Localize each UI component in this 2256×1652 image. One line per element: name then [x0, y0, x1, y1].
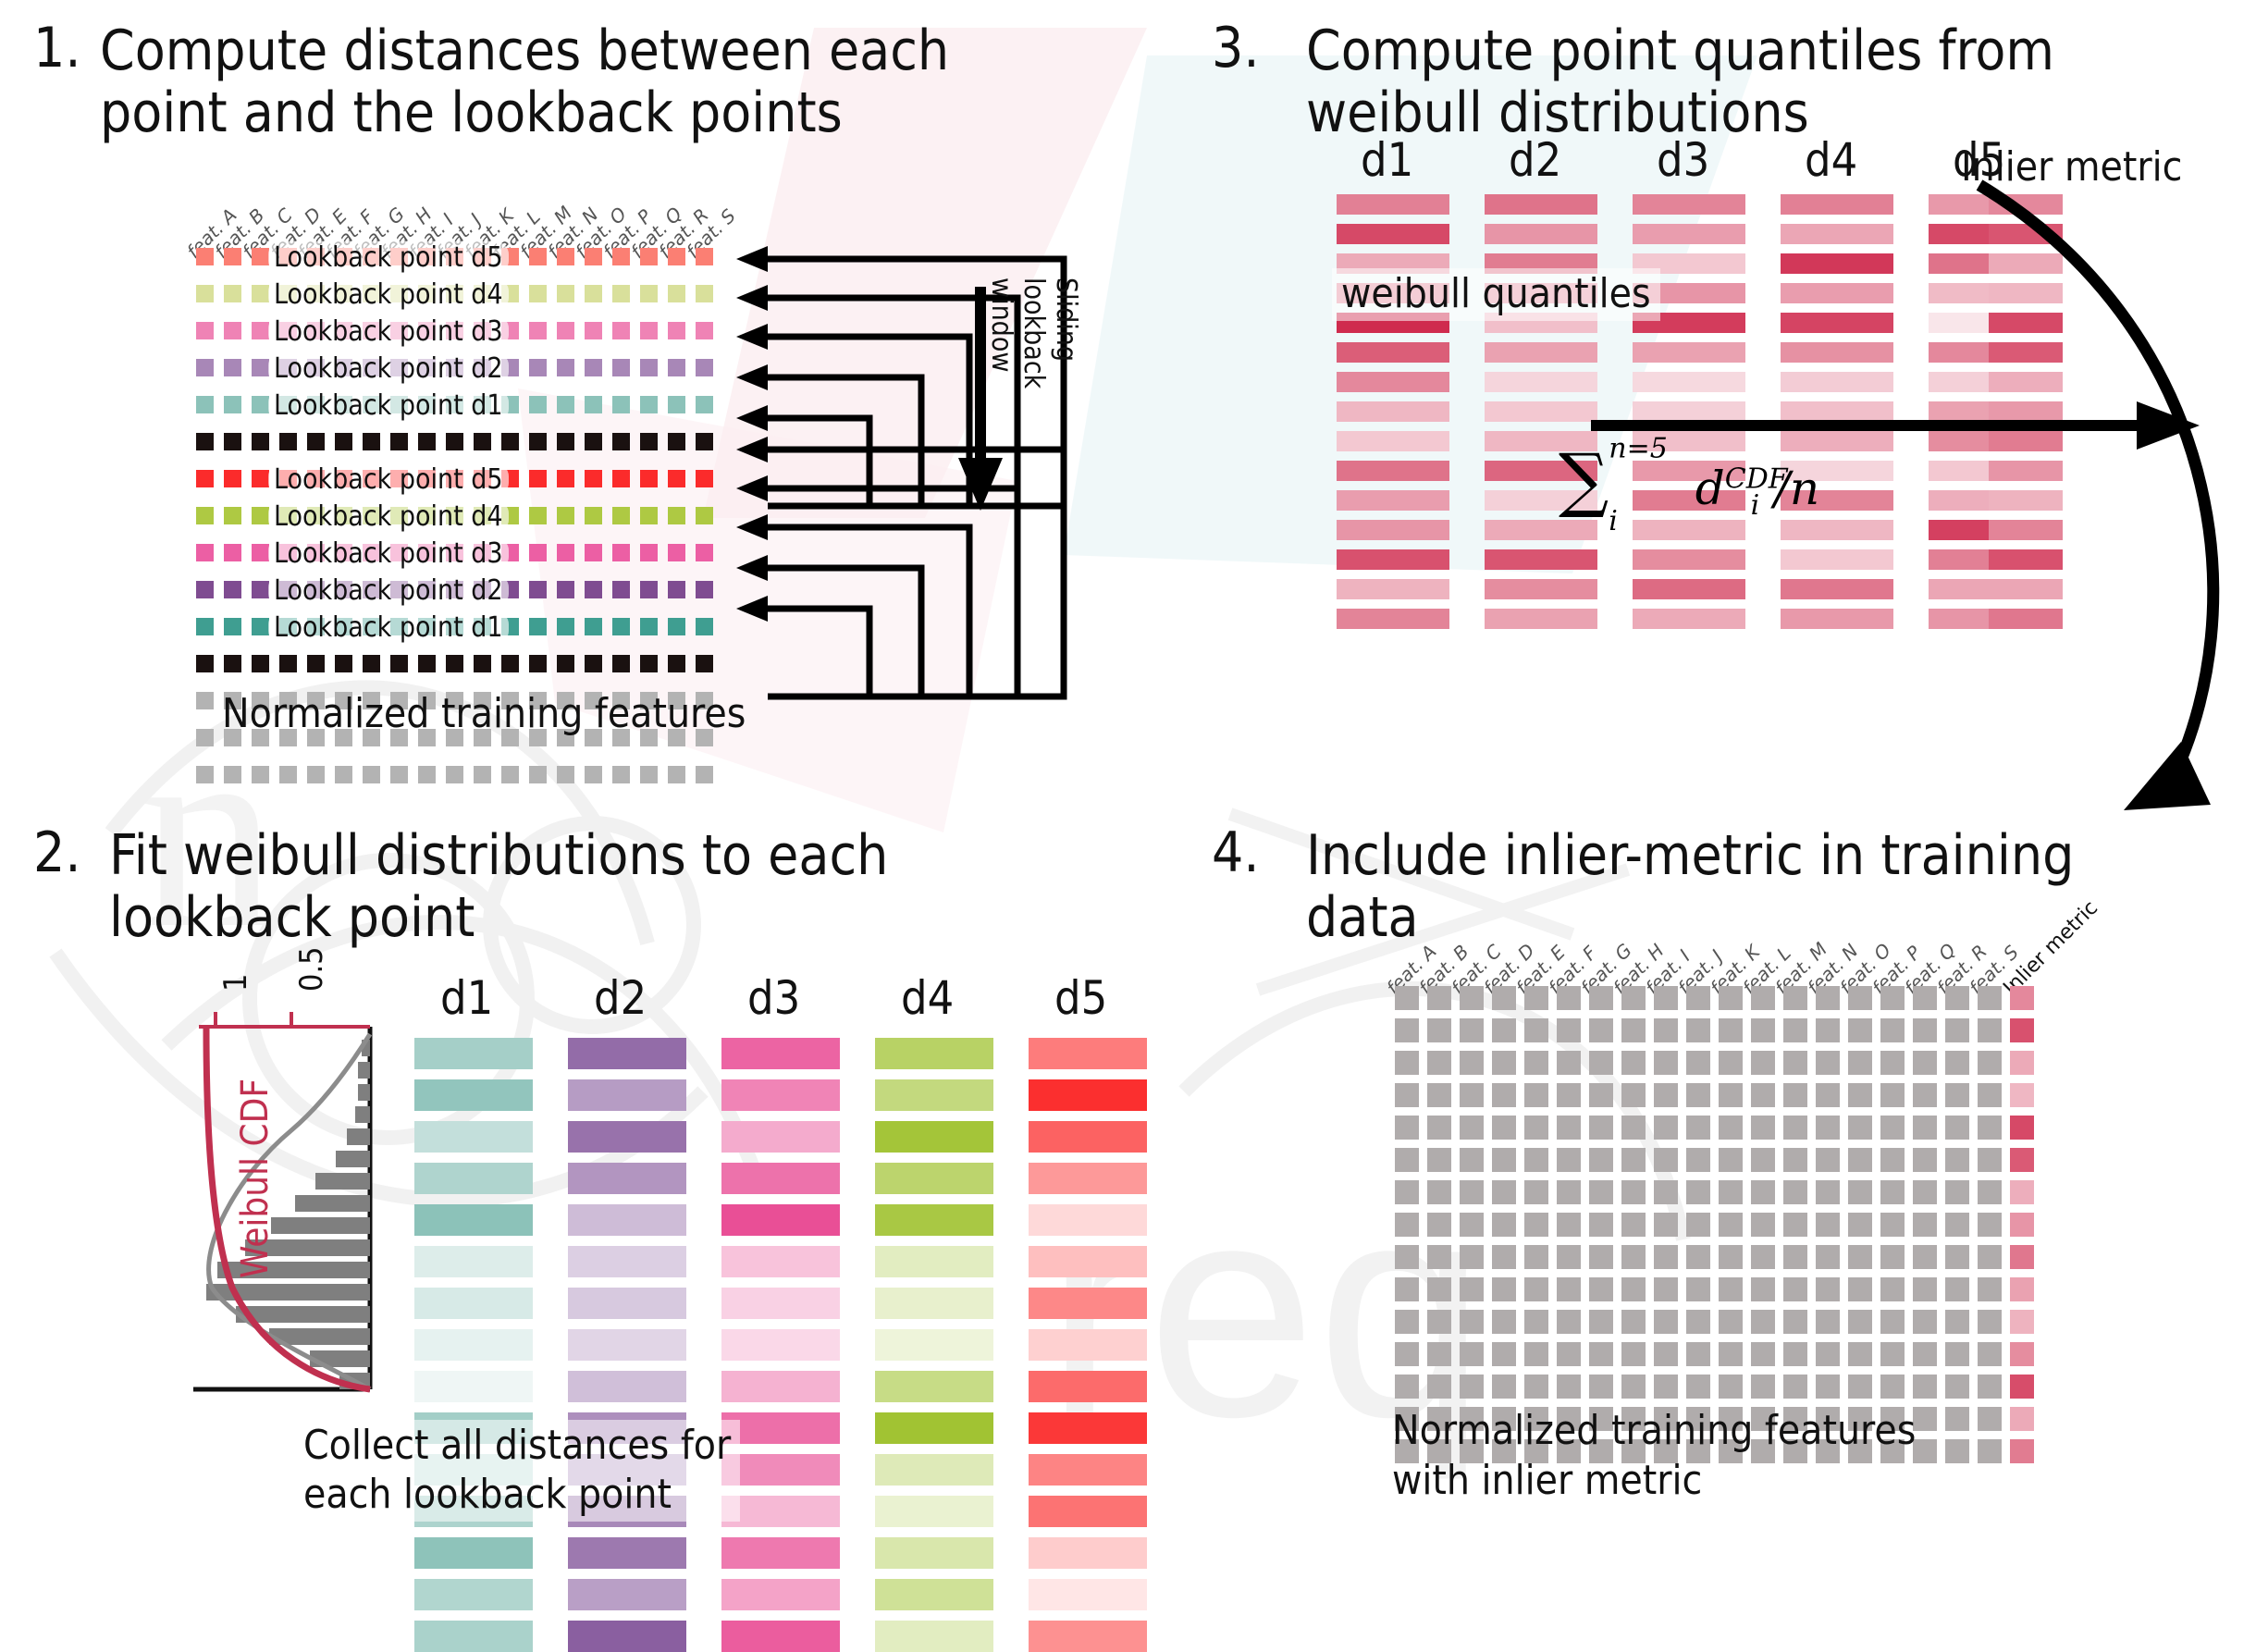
panel-2-d3-bar	[721, 1246, 840, 1277]
panel-1-lookback-row-b-5-cell	[585, 618, 602, 635]
panel-4-inlier-cell	[2010, 1407, 2034, 1431]
panel-2-d4-bar	[875, 1621, 993, 1652]
panel-4-feature-cell	[1783, 986, 1807, 1010]
panel-4-feature-cell	[1557, 1245, 1581, 1269]
panel-1-lookback-row-a-5-cell	[224, 396, 241, 413]
panel-1-current-point-b-cell	[696, 655, 713, 672]
panel-1-lookback-row-a-2-cell	[252, 285, 269, 302]
panel-4-feature-cell	[1848, 1245, 1872, 1269]
panel-4-feature-cell	[1913, 1342, 1937, 1366]
panel-3-d4-bar	[1781, 194, 1893, 215]
panel-4-feature-cell	[1589, 1375, 1613, 1399]
panel-1-current-point-a-cell	[640, 433, 658, 450]
panel-4-feature-cell	[1621, 1245, 1646, 1269]
panel-1-lookback-row-b-2-cell	[529, 507, 547, 524]
panel-4-inlier-cell	[2010, 1018, 2034, 1042]
panel-4-feature-cell	[1492, 1116, 1516, 1140]
panel-2-column-label-d1: d1	[440, 971, 493, 1025]
panel-4-feature-cell	[1686, 1116, 1710, 1140]
panel-2-d1-bar	[414, 1038, 533, 1069]
panel-2-d4-bar	[875, 1163, 993, 1194]
panel-1-trailing-row-3-cell	[196, 766, 214, 783]
panel-4-feature-cell	[1621, 986, 1646, 1010]
panel-4-feature-cell	[1848, 1277, 1872, 1301]
panel-4-feature-cell	[1913, 1277, 1937, 1301]
panel-4-feature-cell	[1621, 1342, 1646, 1366]
panel-1-lookback-row-b-1-cell	[224, 470, 241, 487]
panel-4-feature-cell	[1589, 1051, 1613, 1075]
panel-4-feature-cell	[1816, 1342, 1840, 1366]
panel-4-feature-cell	[1945, 1245, 1969, 1269]
panel-4-feature-cell	[1557, 1180, 1581, 1204]
panel-4-feature-cell	[1945, 1018, 1969, 1042]
panel-3-d4-bar	[1781, 253, 1893, 274]
panel-1-lookback-row-b-3-cell	[196, 544, 214, 561]
panel-2-d5-bar	[1029, 1204, 1147, 1236]
panel-1-compute-distances: 1. Compute distances between each point …	[0, 0, 1128, 795]
panel-1-lookback-row-b-2-cell	[640, 507, 658, 524]
panel-2-d4-bar	[875, 1204, 993, 1236]
panel-1-title: Compute distances between each point and…	[100, 20, 1043, 144]
panel-4-feature-cell	[1783, 1148, 1807, 1172]
panel-4-feature-cell	[1460, 1018, 1484, 1042]
panel-4-feature-cell	[1621, 1148, 1646, 1172]
panel-2-d5-bar	[1029, 1621, 1147, 1652]
panel-4-feature-cell	[1978, 1051, 2002, 1075]
panel-4-feature-cell	[1978, 1407, 2002, 1431]
panel-1-lookback-row-a-3-label: Lookback point d3	[268, 315, 509, 348]
panel-2-d2-bar	[568, 1537, 686, 1569]
formula-lower-limit: i	[1609, 505, 1618, 537]
panel-1-step-number: 1.	[33, 20, 80, 76]
panel-4-feature-cell	[1492, 1375, 1516, 1399]
panel-4-feature-cell	[1427, 1083, 1451, 1107]
panel-4-feature-cell	[1848, 1180, 1872, 1204]
panel-4-feature-cell	[1913, 1051, 1937, 1075]
panel-1-lookback-row-b-1-cell	[640, 470, 658, 487]
panel-1-current-point-b-cell	[529, 655, 547, 672]
panel-2-column-label-d2: d2	[594, 971, 647, 1025]
panel-4-feature-cell	[1848, 1213, 1872, 1237]
weibull-cdf-axis-label: Weibull CDF	[234, 1079, 277, 1278]
panel-1-lookback-row-b-1-cell	[668, 470, 685, 487]
panel-4-feature-cell	[1848, 1342, 1872, 1366]
panel-1-current-point-a-cell	[390, 433, 408, 450]
panel-4-feature-cell	[1978, 1245, 2002, 1269]
panel-4-feature-cell	[1654, 986, 1678, 1010]
panel-1-lookback-row-a-2-cell	[668, 285, 685, 302]
panel-4-feature-cell	[1654, 1018, 1678, 1042]
panel-4-feature-cell	[1589, 1310, 1613, 1334]
panel-1-lookback-row-a-3-cell	[252, 322, 269, 339]
panel-2-d1-bar	[414, 1246, 533, 1277]
panel-3-d1-bar	[1337, 579, 1449, 599]
panel-4-feature-cell	[1719, 986, 1743, 1010]
formula-body-sub: i	[1751, 489, 1760, 522]
panel-1-lookback-row-a-2-cell	[557, 285, 574, 302]
panel-2-d3-bar	[721, 1038, 840, 1069]
panel-4-feature-cell	[1945, 1213, 1969, 1237]
panel-1-lookback-row-b-3-cell	[585, 544, 602, 561]
panel-4-feature-cell	[1589, 1018, 1613, 1042]
panel-4-feature-cell	[1751, 1375, 1775, 1399]
panel-1-lookback-row-b-5-cell	[696, 618, 713, 635]
panel-4-feature-cell	[1719, 1375, 1743, 1399]
panel-1-lookback-row-a-4-cell	[640, 359, 658, 376]
panel-4-feature-cell	[1589, 1083, 1613, 1107]
panel-2-d3-bar	[721, 1121, 840, 1153]
panel-1-lookback-row-b-3-cell	[252, 544, 269, 561]
panel-1-trailing-row-3-cell	[696, 766, 713, 783]
panel-1-trailing-row-3-cell	[585, 766, 602, 783]
panel-2-column-label-d5: d5	[1054, 971, 1107, 1025]
panel-4-feature-cell	[1524, 1342, 1548, 1366]
panel-4-feature-cell	[1460, 1342, 1484, 1366]
panel-4-feature-cell	[1654, 1277, 1678, 1301]
panel-1-current-point-a-cell	[252, 433, 269, 450]
panel-3-column-label-d4: d4	[1805, 133, 1857, 187]
panel-1-lookback-row-b-4-cell	[224, 581, 241, 598]
panel-4-feature-cell	[1686, 1245, 1710, 1269]
panel-3-d2-bar	[1485, 372, 1597, 392]
panel-4-feature-cell	[1719, 1342, 1743, 1366]
panel-4-feature-cell	[1880, 1277, 1905, 1301]
panel-1-current-point-b-cell	[307, 655, 325, 672]
panel-3-d1-bar	[1337, 609, 1449, 629]
panel-1-lookback-row-a-1-cell	[557, 248, 574, 265]
panel-4-feature-cell	[1686, 1083, 1710, 1107]
panel-4-feature-cell	[1589, 1245, 1613, 1269]
panel-4-feature-cell	[1524, 1018, 1548, 1042]
panel-1-lookback-row-b-1-cell	[696, 470, 713, 487]
panel-4-feature-cell	[1621, 1277, 1646, 1301]
panel-2-d5-bar	[1029, 1496, 1147, 1527]
panel-4-feature-cell	[1557, 1018, 1581, 1042]
panel-4-feature-cell	[1524, 1180, 1548, 1204]
panel-4-feature-cell	[1492, 1277, 1516, 1301]
panel-4-feature-cell	[1751, 1245, 1775, 1269]
panel-3-d2-bar	[1485, 549, 1597, 570]
panel-2-step-number: 2.	[33, 825, 80, 881]
panel-4-feature-cell	[1686, 1148, 1710, 1172]
panel-4-feature-cell	[1427, 1310, 1451, 1334]
panel-1-lookback-row-b-2-cell	[252, 507, 269, 524]
panel-4-feature-cell	[1686, 1018, 1710, 1042]
panel-4-feature-cell	[1427, 1180, 1451, 1204]
panel-4-feature-cell	[1880, 1148, 1905, 1172]
panel-2-d3-bar	[721, 1537, 840, 1569]
panel-4-feature-cell	[1686, 1277, 1710, 1301]
panel-4-feature-cell	[1654, 1148, 1678, 1172]
panel-1-current-point-b-cell	[335, 655, 352, 672]
sliding-window-label: Sliding lookback window	[985, 277, 1082, 388]
panel-1-current-point-a-cell	[529, 433, 547, 450]
panel-3-d1-bar	[1337, 431, 1449, 451]
panel-3-d3-bar	[1633, 342, 1745, 363]
panel-4-feature-cell	[1945, 1116, 1969, 1140]
panel-2-d3-bar	[721, 1163, 840, 1194]
panel-2-d5-bar	[1029, 1288, 1147, 1319]
panel-4-feature-cell	[1751, 1083, 1775, 1107]
panel-4-feature-cell	[1492, 1213, 1516, 1237]
panel-3-d1-bar	[1337, 520, 1449, 540]
panel-4-feature-cell	[1783, 1116, 1807, 1140]
panel-4-feature-cell	[1427, 1277, 1451, 1301]
panel-1-trailing-row-3-cell	[640, 766, 658, 783]
panel-2-d4-bar	[875, 1121, 993, 1153]
panel-3-d4-bar	[1781, 609, 1893, 629]
panel-1-trailing-row-3-cell	[252, 766, 269, 783]
panel-1-lookback-row-a-2-label: Lookback point d4	[268, 278, 509, 311]
panel-1-lookback-row-b-5-cell	[252, 618, 269, 635]
panel-4-feature-cell	[1751, 1180, 1775, 1204]
panel-4-feature-cell	[1686, 1310, 1710, 1334]
panel-4-feature-cell	[1719, 1083, 1743, 1107]
panel-4-feature-cell	[1880, 1310, 1905, 1334]
panel-4-feature-cell	[1848, 1148, 1872, 1172]
panel-2-d4-bar	[875, 1496, 993, 1527]
panel-1-lookback-row-b-5-label: Lookback point d1	[268, 611, 509, 644]
panel-1-lookback-row-a-5-cell	[529, 396, 547, 413]
panel-4-feature-cell	[1492, 1342, 1516, 1366]
panel-4-feature-cell	[1589, 1277, 1613, 1301]
panel-2-d4-bar	[875, 1038, 993, 1069]
panel-1-lookback-row-a-2-cell	[696, 285, 713, 302]
panel-4-feature-cell	[1492, 986, 1516, 1010]
panel-4-feature-cell	[1816, 1310, 1840, 1334]
panel-1-lookback-row-a-1-cell	[585, 248, 602, 265]
panel-2-d4-bar	[875, 1454, 993, 1486]
panel-3-column-label-d2: d2	[1509, 133, 1561, 187]
panel-4-feature-cell	[1621, 1116, 1646, 1140]
panel-1-lookback-row-b-1-cell	[612, 470, 630, 487]
panel-1-lookback-row-a-1-cell	[640, 248, 658, 265]
panel-1-lookback-row-a-5-cell	[557, 396, 574, 413]
panel-2-d3-bar	[721, 1579, 840, 1610]
panel-1-lookback-row-a-2-cell	[196, 285, 214, 302]
panel-4-feature-cell	[1978, 1213, 2002, 1237]
panel-4-feature-cell	[1945, 986, 1969, 1010]
panel-4-feature-cell	[1427, 1148, 1451, 1172]
panel-4-feature-cell	[1524, 1083, 1548, 1107]
panel-4-feature-cell	[1524, 986, 1548, 1010]
panel-4-feature-cell	[1557, 1375, 1581, 1399]
panel-4-feature-cell	[1816, 1083, 1840, 1107]
panel-2-overlay-label: Collect all distances for each lookback …	[294, 1420, 740, 1522]
panel-4-feature-cell	[1945, 1277, 1969, 1301]
panel-4-feature-cell	[1557, 1116, 1581, 1140]
panel-4-feature-cell	[1816, 1018, 1840, 1042]
panel-1-current-point-a-cell	[279, 433, 297, 450]
panel-3-d4-bar	[1781, 579, 1893, 599]
panel-4-feature-cell	[1913, 1310, 1937, 1334]
panel-4-feature-cell	[1978, 1439, 2002, 1463]
panel-4-feature-cell	[1492, 1245, 1516, 1269]
panel-4-feature-cell	[1621, 1180, 1646, 1204]
panel-1-current-point-b-cell	[390, 655, 408, 672]
panel-1-lookback-row-b-5-cell	[612, 618, 630, 635]
panel-4-feature-cell	[1913, 1180, 1937, 1204]
panel-1-current-point-a-cell	[696, 433, 713, 450]
panel-4-feature-cell	[1686, 1342, 1710, 1366]
panel-4-feature-cell	[1945, 1051, 1969, 1075]
panel-1-trailing-row-3-cell	[557, 766, 574, 783]
panel-4-feature-cell	[1751, 1213, 1775, 1237]
panel-4-feature-cell	[1945, 1407, 1969, 1431]
panel-2-d4-bar	[875, 1579, 993, 1610]
weibull-cdf-plot: 1 0.5 Weibull CDF	[180, 1019, 384, 1389]
panel-2-d2-bar	[568, 1288, 686, 1319]
panel-4-feature-cell	[1686, 1051, 1710, 1075]
panel-1-lookback-row-b-5-cell	[196, 618, 214, 635]
panel-1-lookback-row-b-2-cell	[196, 507, 214, 524]
panel-2-d5-bar	[1029, 1038, 1147, 1069]
panel-2-d1-bar	[414, 1329, 533, 1361]
panel-2-d1-bar	[414, 1371, 533, 1402]
panel-4-feature-cell	[1395, 1310, 1419, 1334]
panel-4-feature-cell	[1880, 1018, 1905, 1042]
panel-3-d2-bar	[1485, 342, 1597, 363]
panel-4-inlier-cell	[2010, 1277, 2034, 1301]
panel-4-feature-cell	[1395, 1148, 1419, 1172]
panel-1-lookback-row-a-5-label: Lookback point d1	[268, 389, 509, 422]
panel-1-current-point-b-cell	[474, 655, 491, 672]
panel-4-feature-cell	[1557, 1051, 1581, 1075]
panel-4-feature-cell	[1686, 1180, 1710, 1204]
panel-4-feature-cell	[1880, 1116, 1905, 1140]
panel-1-trailing-row-2-cell	[196, 729, 214, 746]
panel-4-feature-cell	[1945, 1375, 1969, 1399]
formula-upper-limit: n=5	[1609, 432, 1668, 464]
panel-4-feature-cell	[1621, 1213, 1646, 1237]
panel-4-feature-cell	[1880, 1180, 1905, 1204]
panel-4-feature-cell	[1654, 1180, 1678, 1204]
panel-4-feature-cell	[1816, 1213, 1840, 1237]
panel-1-trailing-row-3-cell	[335, 766, 352, 783]
panel-4-feature-cell	[1719, 1116, 1743, 1140]
panel-4-feature-cell	[1848, 1051, 1872, 1075]
panel-4-feature-cell	[1816, 986, 1840, 1010]
panel-4-feature-cell	[1719, 1051, 1743, 1075]
panel-4-step-number: 4.	[1212, 825, 1259, 881]
panel-4-feature-cell	[1751, 1051, 1775, 1075]
panel-4-feature-cell	[1816, 1277, 1840, 1301]
panel-4-feature-cell	[1978, 1083, 2002, 1107]
panel-2-d3-bar	[721, 1204, 840, 1236]
panel-4-feature-cell	[1719, 1213, 1743, 1237]
panel-3-formula: ∑ n=5 i dCDFi /n	[1559, 435, 1819, 549]
panel-1-lookback-row-a-5-cell	[668, 396, 685, 413]
panel-1-current-point-b-cell	[196, 655, 214, 672]
panel-1-lookback-row-b-2-cell	[668, 507, 685, 524]
panel-4-feature-cell	[1557, 1277, 1581, 1301]
panel-1-current-point-b-cell	[279, 655, 297, 672]
panel-4-feature-cell	[1524, 1213, 1548, 1237]
panel-4-feature-cell	[1978, 986, 2002, 1010]
formula-sigma: ∑	[1559, 438, 1609, 521]
panel-2-d4-bar	[875, 1288, 993, 1319]
panel-4-feature-cell	[1524, 1051, 1548, 1075]
panel-1-lookback-row-a-4-cell	[585, 359, 602, 376]
panel-4-feature-cell	[1395, 1375, 1419, 1399]
panel-2-d4-bar	[875, 1371, 993, 1402]
panel-3-d2-bar	[1485, 224, 1597, 244]
panel-4-feature-cell	[1395, 1213, 1419, 1237]
panel-1-lookback-row-a-2-cell	[224, 285, 241, 302]
panel-1-lookback-row-a-4-label: Lookback point d2	[268, 352, 509, 385]
panel-4-feature-cell	[1719, 1018, 1743, 1042]
panel-4-feature-cell	[1492, 1018, 1516, 1042]
panel-4-feature-cell	[1654, 1375, 1678, 1399]
panel-2-d1-bar	[414, 1121, 533, 1153]
panel-4-inlier-cell	[2010, 1213, 2034, 1237]
panel-4-feature-cell	[1751, 1116, 1775, 1140]
panel-1-lookback-row-a-4-cell	[696, 359, 713, 376]
panel-3-d4-bar	[1781, 283, 1893, 303]
panel-1-lookback-row-b-2-cell	[585, 507, 602, 524]
panel-1-lookback-row-b-2-cell	[696, 507, 713, 524]
panel-2-d2-bar	[568, 1038, 686, 1069]
panel-3-title: Compute point quantiles from weibull dis…	[1306, 20, 2231, 144]
panel-4-feature-cell	[1524, 1277, 1548, 1301]
panel-1-lookback-row-a-3-cell	[640, 322, 658, 339]
panel-4-feature-cell	[1395, 1180, 1419, 1204]
panel-4-feature-cell	[1395, 1116, 1419, 1140]
panel-3-d1-bar	[1337, 342, 1449, 363]
panel-1-trailing-row-3-cell	[363, 766, 380, 783]
panel-4-feature-cell	[1783, 1018, 1807, 1042]
panel-4-feature-cell	[1460, 1310, 1484, 1334]
panel-4-feature-cell	[1654, 1342, 1678, 1366]
panel-4-feature-cell	[1945, 1148, 1969, 1172]
panel-2-d2-bar	[568, 1329, 686, 1361]
panel-4-feature-cell	[1557, 1148, 1581, 1172]
panel-1-lookback-row-a-1-cell	[224, 248, 241, 265]
panel-1-lookback-row-a-1-cell	[696, 248, 713, 265]
panel-4-feature-cell	[1395, 1083, 1419, 1107]
panel-1-lookback-row-a-5-cell	[696, 396, 713, 413]
panel-3-d3-bar	[1633, 224, 1745, 244]
panel-4-feature-cell	[1460, 1116, 1484, 1140]
panel-1-trailing-row-1-cell	[196, 692, 214, 709]
panel-4-feature-cell	[1816, 1148, 1840, 1172]
panel-4-feature-cell	[1913, 1116, 1937, 1140]
panel-1-lookback-row-b-4-cell	[557, 581, 574, 598]
panel-4-feature-cell	[1621, 1083, 1646, 1107]
panel-2-d3-bar	[721, 1288, 840, 1319]
panel-2-fit-weibull: 2. Fit weibull distributions to each loo…	[0, 805, 1128, 1569]
panel-1-lookback-row-b-2-cell	[224, 507, 241, 524]
panel-4-feature-cell	[1460, 1277, 1484, 1301]
panel-4-feature-cell	[1719, 1245, 1743, 1269]
panel-4-feature-cell	[1654, 1310, 1678, 1334]
panel-1-lookback-row-b-3-cell	[668, 544, 685, 561]
panel-1-lookback-row-a-1-cell	[529, 248, 547, 265]
panel-4-inlier-cell	[2010, 1439, 2034, 1463]
panel-1-lookback-row-a-1-cell	[612, 248, 630, 265]
panel-1-lookback-row-b-1-cell	[529, 470, 547, 487]
panel-4-inlier-cell	[2010, 1375, 2034, 1399]
panel-1-trailing-row-3-cell	[474, 766, 491, 783]
panel-1-lookback-row-a-4-cell	[529, 359, 547, 376]
panel-1-lookback-row-a-4-cell	[668, 359, 685, 376]
panel-1-lookback-row-b-1-label: Lookback point d5	[268, 463, 509, 496]
panel-3-d1-bar	[1337, 194, 1449, 215]
panel-4-feature-cell	[1589, 1342, 1613, 1366]
panel-3-column-label-d1: d1	[1361, 133, 1413, 187]
panel-4-feature-cell	[1492, 1083, 1516, 1107]
panel-2-d5-bar	[1029, 1454, 1147, 1486]
